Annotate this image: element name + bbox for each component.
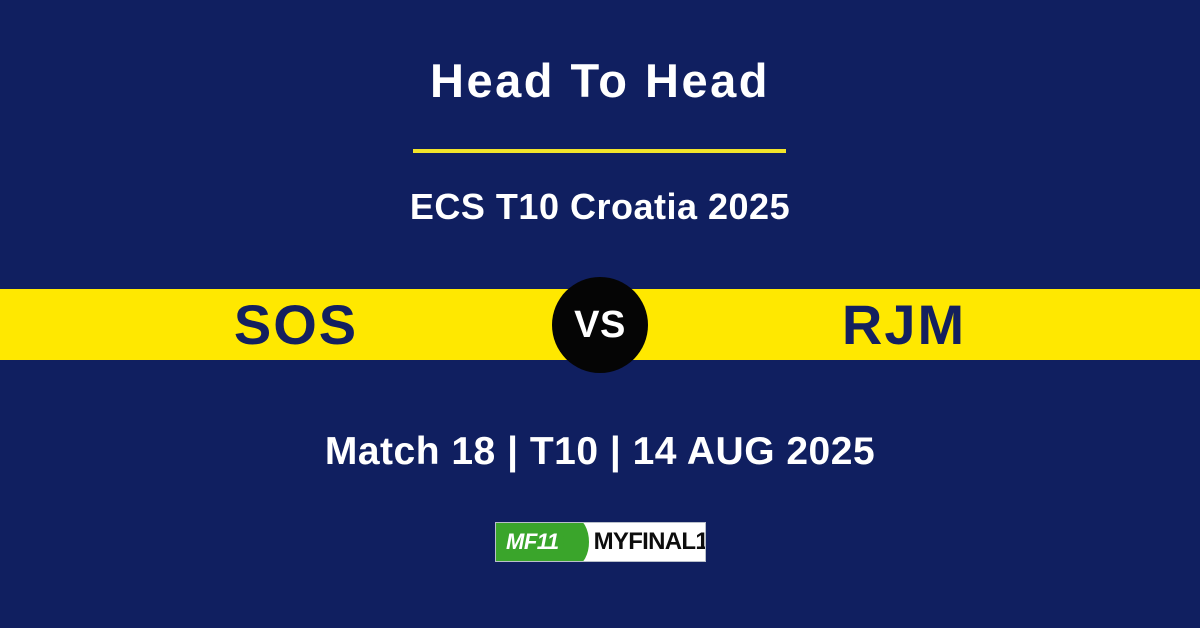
versus-badge: VS [552,277,648,373]
brand-logo-wordmark: MYFINAL11 [594,530,706,554]
title-underline-divider [413,149,786,153]
head-to-head-poster: Head To Head ECS T10 Croatia 2025 SOS RJ… [0,0,1200,628]
brand-logo: MF11 MYFINAL11 [495,522,706,562]
brand-logo-badge: MF11 [496,523,576,561]
page-title: Head To Head [0,57,1200,104]
team-left-abbreviation: SOS [40,289,552,360]
team-right-abbreviation: RJM [648,289,1160,360]
match-details: Match 18 | T10 | 14 AUG 2025 [0,432,1200,471]
brand-logo-badge-text: MF11 [506,531,559,553]
tournament-name: ECS T10 Croatia 2025 [0,189,1200,225]
